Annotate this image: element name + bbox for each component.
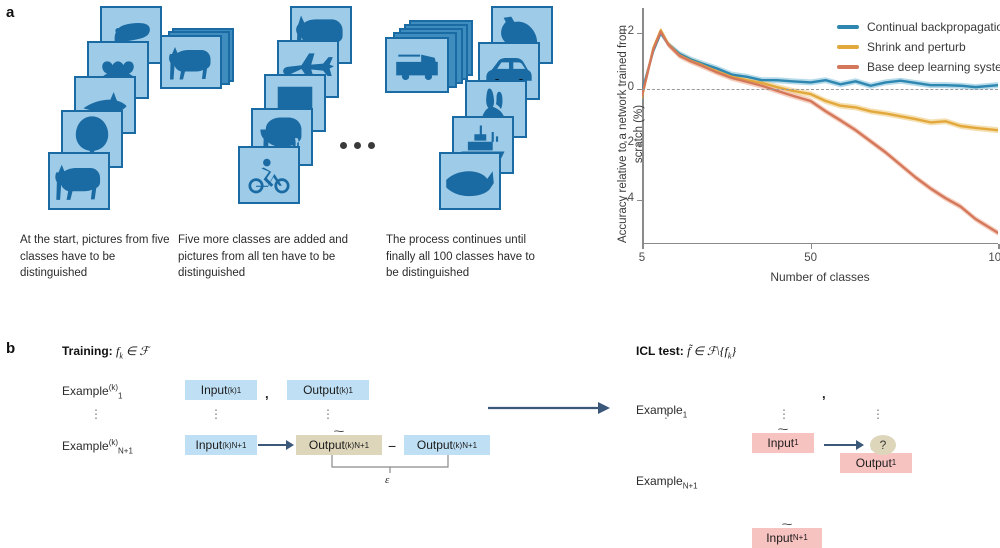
legend-label: Shrink and perturb	[867, 40, 966, 54]
panel-a-illustration: At the start, pictures from five classes…	[0, 0, 610, 310]
icl-example-n-label: ExampleN+1	[636, 474, 1000, 490]
accuracy-chart: Accuracy relative to a network trained f…	[600, 0, 1000, 310]
example-superscript: (k)	[109, 383, 118, 392]
icl-output-1-box: Output1	[840, 453, 912, 473]
output-subscript: 1	[348, 386, 352, 395]
panel-b-diagram: Training: fk ∈ ℱ Example(k)1 ⋮ Example(k…	[0, 330, 1000, 490]
x-tick-mark	[998, 244, 1000, 249]
icl-input-vdots: ⋮	[778, 412, 791, 416]
icl-input-1-box: Input1	[752, 433, 814, 453]
training-example-n-label: Example(k)N+1	[62, 438, 133, 455]
output-word: Output	[856, 456, 892, 470]
x-tick-label: 5	[622, 252, 662, 264]
x-axis-title: Number of classes	[642, 270, 998, 284]
training-comma-1: ,	[265, 386, 269, 401]
input-superscript: (k)	[227, 386, 236, 395]
legend-label: Continual backpropagation	[867, 20, 1000, 34]
legend-swatch	[837, 25, 859, 28]
y-tick-label: -4	[608, 192, 634, 204]
input-subscript: N+1	[793, 533, 808, 542]
caption-stage-1: At the start, pictures from five classes…	[20, 232, 170, 282]
training-title-math: fk ∈ ℱ	[116, 344, 149, 358]
training-title-bold: Training:	[62, 344, 113, 358]
training-predicted-output-box: Output(k)N+1	[296, 435, 382, 455]
training-input-n-box: Input(k)N+1	[185, 435, 257, 455]
legend-row[interactable]: Shrink and perturb	[837, 38, 1000, 56]
example-superscript: (k)	[109, 438, 118, 447]
input-word: Input	[767, 436, 794, 450]
legend-swatch	[837, 65, 859, 68]
example-subscript: 1	[683, 410, 687, 419]
training-minus-sign: −	[388, 438, 396, 454]
input-word: Input	[196, 438, 223, 452]
training-output-1-box: Output(k)1	[287, 380, 369, 400]
x-tick-mark	[811, 244, 813, 249]
image-card-stack-truck	[385, 20, 471, 92]
training-input-1-box: Input(k)1	[185, 380, 257, 400]
legend-row[interactable]: Continual backpropagation	[837, 18, 1000, 36]
zero-reference-line	[642, 89, 998, 90]
training-arrow-input-to-output	[258, 438, 294, 454]
example-subscript: N+1	[118, 446, 133, 455]
training-example-1-label: Example(k)1	[62, 383, 122, 400]
image-card-bicycle	[238, 146, 300, 204]
icl-comma-1: ,	[822, 386, 826, 401]
icl-title-bold: ICL test:	[636, 344, 684, 358]
epsilon-bracket	[330, 455, 450, 477]
icl-example-1-label: Example1	[636, 403, 1000, 419]
icl-example-vdots: ⋮	[660, 412, 673, 416]
output-superscript: (k)	[345, 441, 354, 450]
image-card-stack-dog	[160, 28, 238, 90]
x-tick-mark	[642, 244, 644, 249]
training-title: Training: fk ∈ ℱ	[62, 344, 149, 360]
chart-legend: Continual backpropagationShrink and pert…	[837, 18, 1000, 78]
x-tick-label: 50	[791, 252, 831, 264]
example-subscript: N+1	[683, 482, 698, 491]
icl-test-title: ICL test: f̃ ∈ ℱ\{fk}	[636, 344, 736, 360]
icl-question-badge: ?	[870, 435, 896, 455]
legend-swatch	[837, 45, 859, 48]
icl-arrow-input-to-question	[824, 438, 864, 454]
image-card-dog	[48, 152, 110, 210]
input-subscript: N+1	[232, 441, 247, 450]
icl-input-n-box: InputN+1	[752, 528, 822, 548]
icl-output-vdots: ⋮	[872, 412, 885, 416]
output-word: Output	[417, 438, 453, 452]
output-subscript: N+1	[462, 441, 477, 450]
output-subscript: N+1	[354, 441, 369, 450]
caption-stage-3: The process continues until finally all …	[386, 232, 536, 282]
output-superscript: (k)	[453, 441, 462, 450]
example-word: Example	[62, 384, 109, 398]
training-input-vdots: ⋮	[210, 412, 223, 416]
training-example-vdots: ⋮	[90, 412, 103, 416]
legend-label: Base deep learning system	[867, 60, 1000, 74]
output-word: Output	[309, 438, 345, 452]
y-tick-label: 0	[608, 81, 634, 93]
epsilon-label: ε	[385, 474, 389, 486]
image-card-whale	[439, 152, 501, 210]
icl-title-math: f̃ ∈ ℱ\{fk}	[687, 344, 736, 358]
ellipsis-dots	[340, 142, 375, 149]
input-subscript: 1	[794, 438, 798, 447]
training-to-test-arrow	[488, 400, 610, 416]
example-word: Example	[62, 439, 109, 453]
example-word: Example	[636, 474, 683, 488]
example-subscript: 1	[118, 391, 122, 400]
output-superscript: (k)	[339, 386, 348, 395]
input-word: Input	[766, 531, 793, 545]
plot-frame: Accuracy relative to a network trained f…	[642, 8, 998, 244]
x-tick-label: 100	[978, 252, 1000, 264]
legend-row[interactable]: Base deep learning system	[837, 58, 1000, 76]
input-word: Input	[201, 383, 228, 397]
training-output-vdots: ⋮	[322, 412, 335, 416]
input-subscript: 1	[237, 386, 241, 395]
training-target-output-box: Output(k)N+1	[404, 435, 490, 455]
output-word: Output	[303, 383, 339, 397]
output-subscript: 1	[892, 458, 896, 467]
y-tick-label: +2	[608, 25, 634, 37]
input-superscript: (k)	[222, 441, 231, 450]
y-tick-label: -2	[608, 136, 634, 148]
caption-stage-2: Five more classes are added and pictures…	[178, 232, 356, 282]
